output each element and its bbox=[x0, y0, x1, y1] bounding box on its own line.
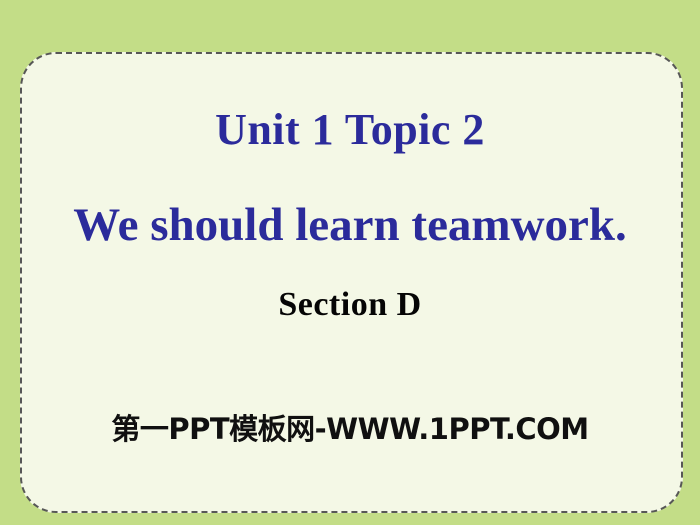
presentation-slide: Unit 1 Topic 2 We should learn teamwork.… bbox=[0, 0, 700, 525]
content-frame bbox=[20, 52, 683, 513]
